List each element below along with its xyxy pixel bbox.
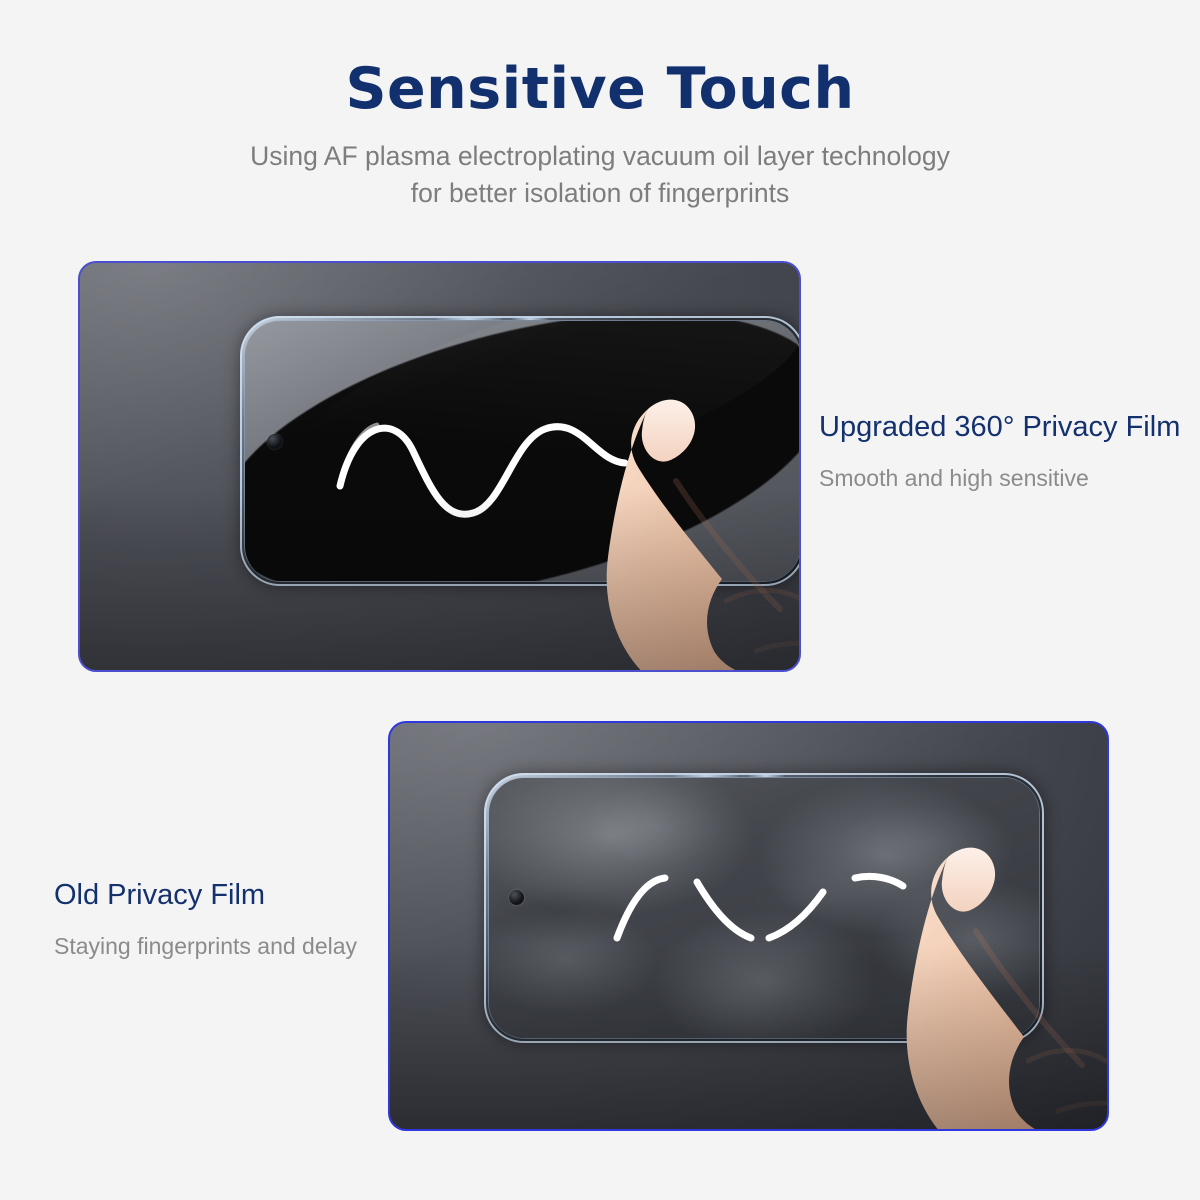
phone-upgraded [240, 316, 801, 586]
annotation-title-old: Old Privacy Film [54, 879, 357, 912]
old-film-image-card [388, 721, 1109, 1131]
front-camera-icon [509, 890, 524, 905]
earpiece-speaker-icon [512, 317, 548, 320]
upgraded-film-image-card [78, 261, 801, 672]
card-inner-bottom [390, 723, 1107, 1129]
phone-screen-smudged [489, 778, 1039, 1038]
annotation-upgraded-film: Upgraded 360° Privacy Film Smooth and hi… [819, 411, 1180, 492]
earpiece-speaker-icon [748, 774, 784, 777]
earpiece-speaker-icon [436, 317, 502, 320]
annotation-old-film: Old Privacy Film Staying fingerprints an… [54, 879, 357, 960]
subtitle-line-1: Using AF plasma electroplating vacuum oi… [0, 138, 1200, 175]
earpiece-speaker-icon [674, 774, 738, 777]
subtitle-line-2: for better isolation of fingerprints [0, 175, 1200, 212]
annotation-title-upgraded: Upgraded 360° Privacy Film [819, 411, 1180, 444]
page-title: Sensitive Touch [0, 0, 1200, 122]
front-camera-icon [267, 434, 282, 449]
annotation-subtitle-old: Staying fingerprints and delay [54, 912, 357, 960]
annotation-subtitle-upgraded: Smooth and high sensitive [819, 444, 1180, 492]
product-feature-page: Sensitive Touch Using AF plasma electrop… [0, 0, 1200, 1200]
card-inner-top [80, 263, 799, 670]
phone-old [484, 773, 1044, 1043]
fingerprint-smudge-texture [489, 778, 1039, 1038]
phone-screen-clean [245, 321, 800, 581]
header: Sensitive Touch Using AF plasma electrop… [0, 0, 1200, 212]
page-subtitle: Using AF plasma electroplating vacuum oi… [0, 122, 1200, 212]
